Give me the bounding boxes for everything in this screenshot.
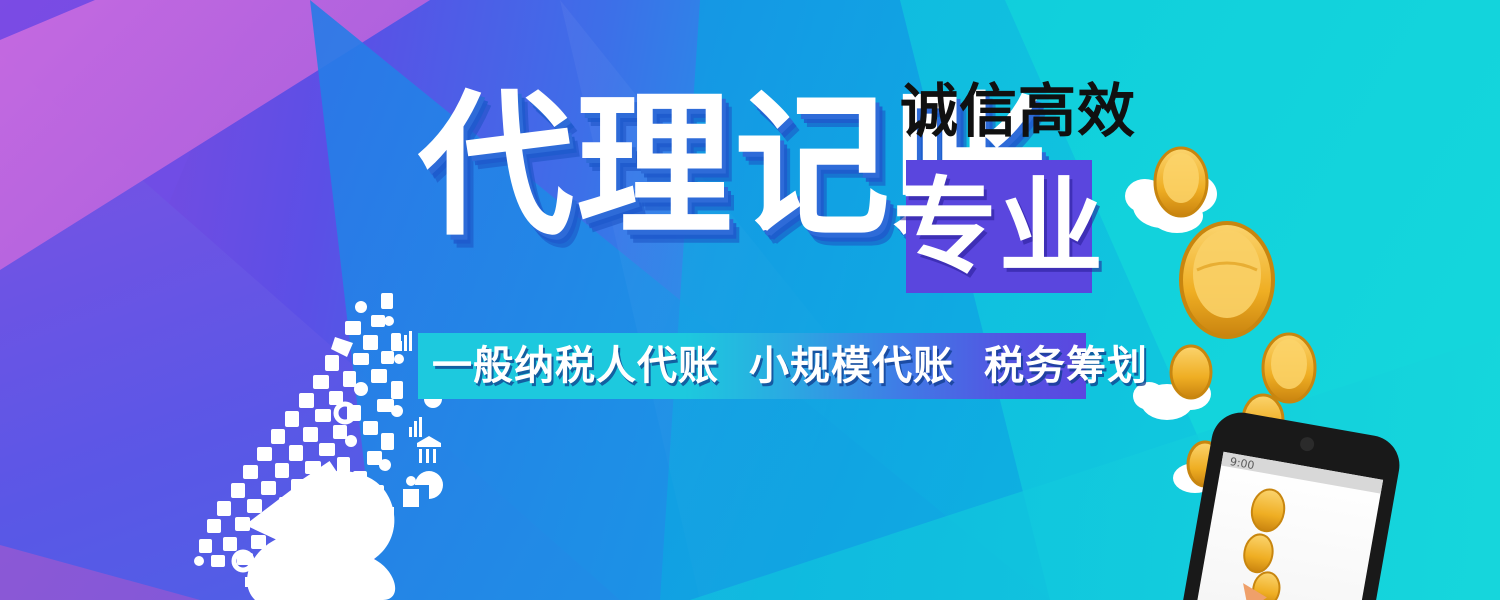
service-item-1[interactable]: 一般纳税人代账	[432, 346, 719, 386]
service-item-2[interactable]: 小规模代账	[749, 346, 954, 386]
services-bar: 一般纳税人代账 小规模代账 税务筹划	[418, 333, 1086, 399]
service-item-3[interactable]: 税务筹划	[984, 346, 1148, 386]
marketing-banner: 9:00	[0, 0, 1500, 600]
slogan-text: 诚信高效	[900, 82, 1136, 140]
smartphone-icon: 9:00	[1160, 408, 1404, 600]
status-badge: 专业	[906, 160, 1092, 293]
pro-badge-label: 专业	[893, 175, 1105, 279]
